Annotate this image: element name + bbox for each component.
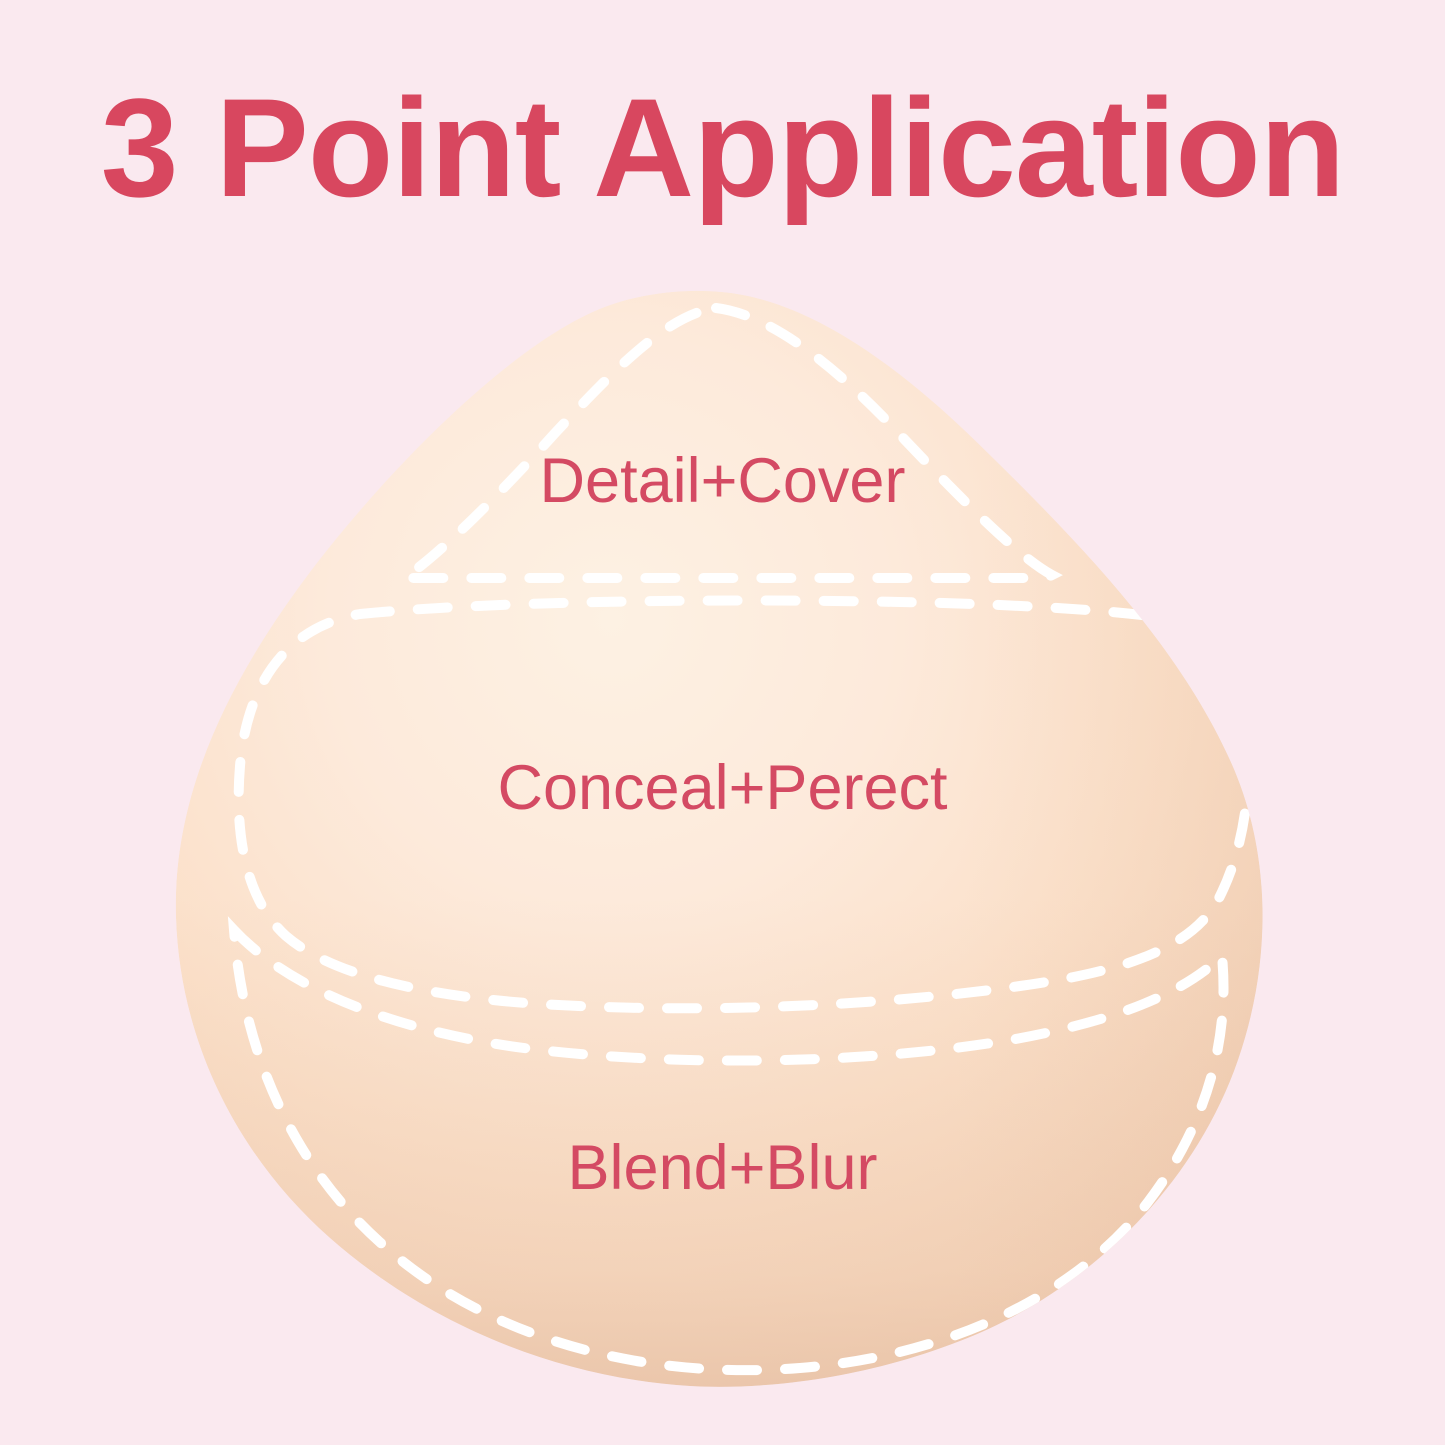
product-infographic: 3 Point Application	[0, 0, 1445, 1445]
zone-label-detail-cover: Detail+Cover	[0, 450, 1445, 513]
sponge-illustration	[0, 0, 1445, 1445]
sponge-body	[0, 0, 1445, 1445]
zone-label-blend-blur: Blend+Blur	[0, 1137, 1445, 1200]
zone-label-conceal-perect: Conceal+Perect	[0, 757, 1445, 820]
sponge-svg	[0, 0, 1445, 1445]
sponge-right-shading	[0, 0, 1445, 1445]
